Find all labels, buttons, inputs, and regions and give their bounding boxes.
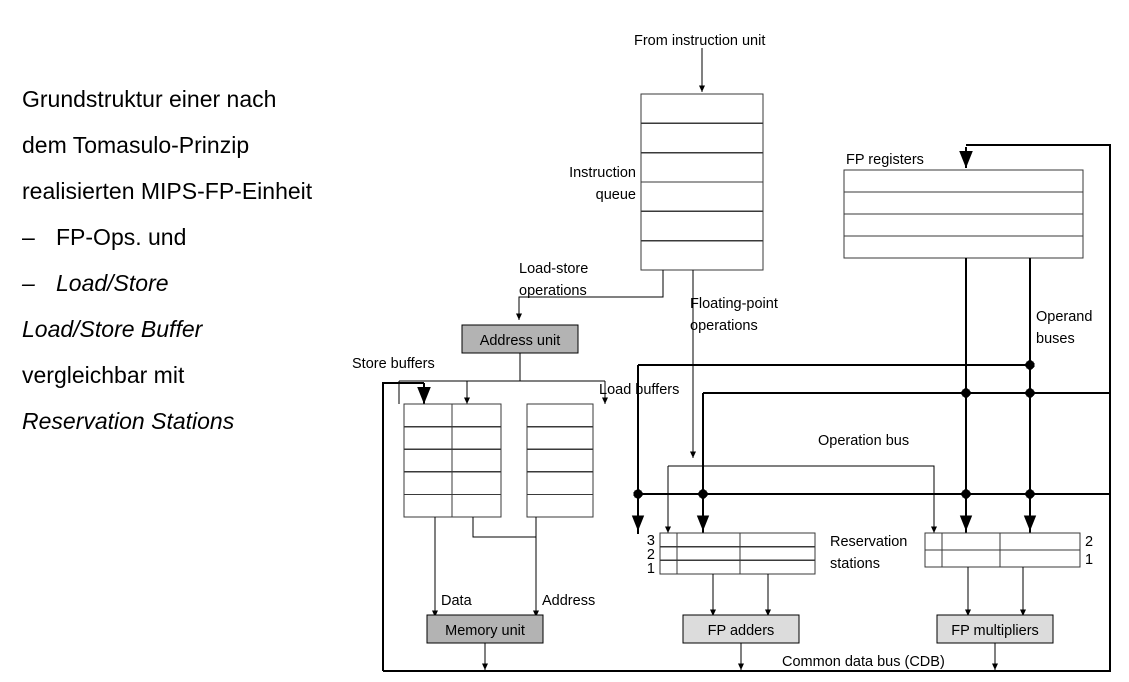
label-address: Address xyxy=(542,593,595,609)
label-common-data-bus: Common data bus (CDB) xyxy=(782,654,945,670)
rs-right-row-label-1: 1 xyxy=(1085,552,1093,568)
reservation-stations-left-box xyxy=(660,533,815,574)
label-reservation-stations-line2: stations xyxy=(830,556,880,572)
tomasulo-diagram: From instruction unit Instruction queue … xyxy=(0,0,1129,682)
label-operation-bus: Operation bus xyxy=(818,433,909,449)
label-data: Data xyxy=(441,593,473,609)
rs-right-to-fp-multipliers xyxy=(968,567,1023,610)
rs-left-to-fp-adders xyxy=(713,574,768,610)
label-store-buffers: Store buffers xyxy=(352,356,435,372)
label-memory-unit: Memory unit xyxy=(445,623,525,639)
rs-right-row-label-2: 2 xyxy=(1085,534,1093,550)
label-instruction-queue-line2: queue xyxy=(596,187,636,203)
label-load-buffers: Load buffers xyxy=(599,382,679,398)
label-from-instruction-unit: From instruction unit xyxy=(634,33,765,49)
label-instruction-queue-line1: Instruction xyxy=(569,165,636,181)
store-buffers-box xyxy=(404,404,501,517)
operand-branch-lower xyxy=(703,393,1110,534)
label-floating-point-ops-line2: operations xyxy=(690,318,758,334)
slide-canvas: Grundstruktur einer nach dem Tomasulo-Pr… xyxy=(0,0,1129,682)
operand-branch-upper xyxy=(638,365,1030,534)
label-load-store-ops-line1: Load-store xyxy=(519,261,588,277)
label-fp-multipliers: FP multipliers xyxy=(951,623,1039,639)
label-fp-adders: FP adders xyxy=(708,623,775,639)
reservation-stations-right-box xyxy=(925,533,1080,567)
label-address-unit: Address unit xyxy=(480,333,561,349)
label-operand-buses-line2: buses xyxy=(1036,331,1075,347)
label-floating-point-ops-line1: Floating-point xyxy=(690,296,778,312)
label-operand-buses-line1: Operand xyxy=(1036,309,1092,325)
label-load-store-ops-line2: operations xyxy=(519,283,587,299)
load-buffers-box xyxy=(527,404,593,517)
instruction-queue-box xyxy=(641,94,763,270)
address-merge-path xyxy=(473,517,536,612)
fp-registers-box xyxy=(844,170,1083,258)
label-reservation-stations-line1: Reservation xyxy=(830,534,907,550)
label-fp-registers: FP registers xyxy=(846,152,924,168)
rs-left-row-label-1: 1 xyxy=(647,561,655,577)
operation-bus-feeder xyxy=(668,466,934,529)
